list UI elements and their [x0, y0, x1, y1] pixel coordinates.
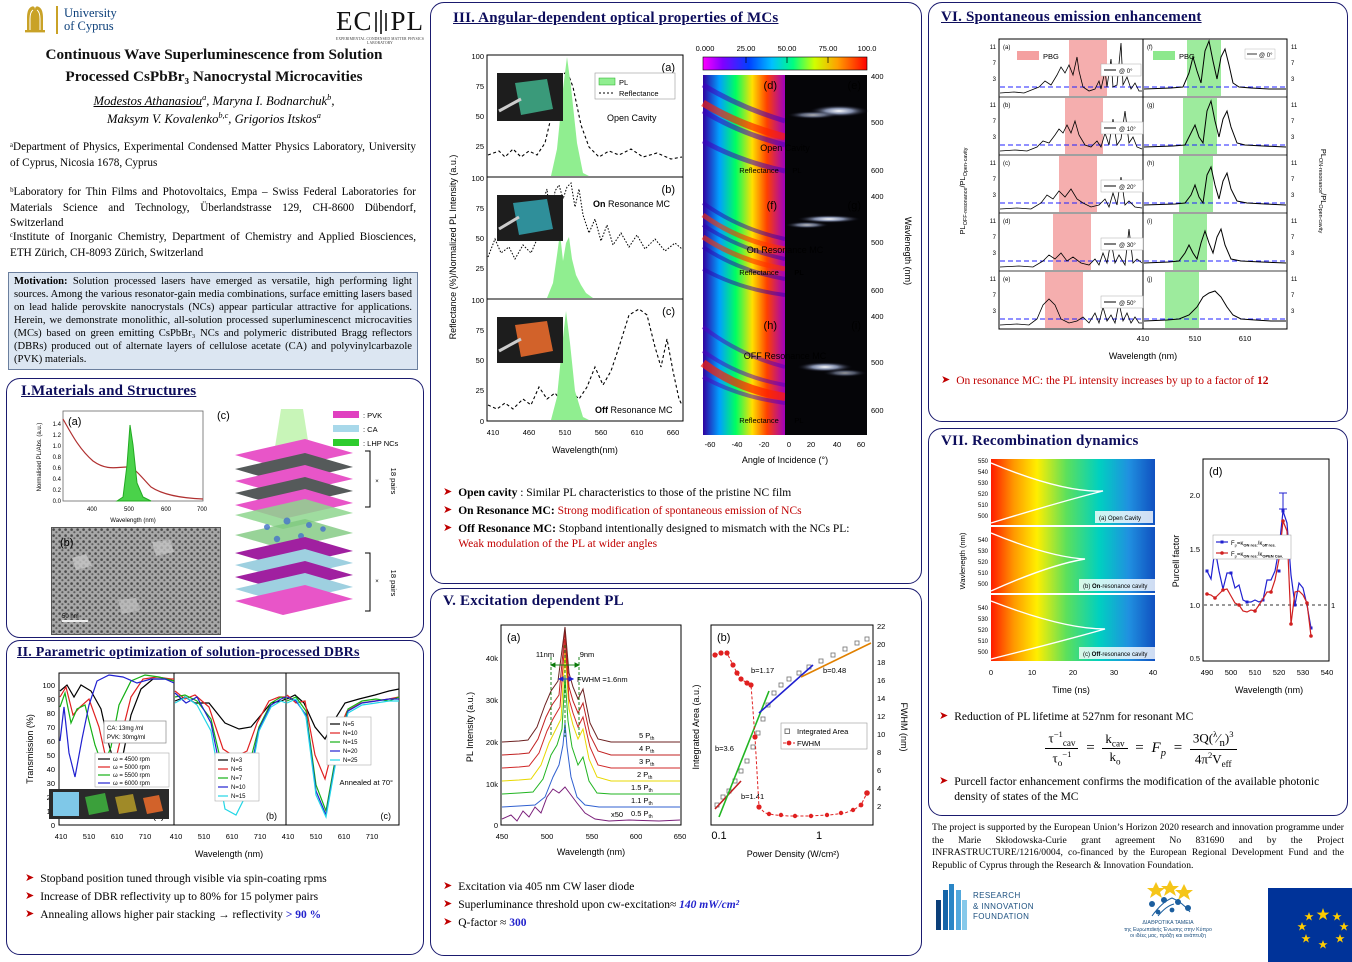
arrow-icon: ➤	[443, 916, 452, 930]
svg-text:75.00: 75.00	[819, 44, 838, 53]
svg-text:40: 40	[47, 765, 55, 774]
svg-text:60: 60	[857, 440, 865, 449]
figure-i-b-label: (b)	[60, 537, 73, 549]
svg-text:11: 11	[990, 277, 997, 283]
svg-text:600: 600	[871, 286, 884, 295]
svg-text:0.8: 0.8	[53, 455, 62, 461]
angle-label-50: @ 50°	[1119, 301, 1136, 307]
bullet-text: Superluminance threshold upon cw-excitat…	[458, 898, 739, 913]
svg-text:660: 660	[667, 428, 680, 437]
legend-label-reflectance: Reflectance	[619, 89, 659, 98]
sub-label-reflectance: Reflectance	[739, 166, 779, 175]
section-vi-title: VI. Spontaneous emission enhancement	[941, 9, 1202, 26]
figure-vii-yticks: 550540530 520510500 540530520 510500 540…	[978, 459, 989, 656]
angle-label-30: @ 30°	[1119, 243, 1136, 249]
svg-text:Wavelength (nm): Wavelength (nm)	[110, 518, 155, 524]
svg-text:540: 540	[1321, 668, 1334, 677]
motivation-box: Motivation: Solution processed lasers ha…	[8, 272, 418, 370]
figure-iii-e-label: (e)	[848, 80, 861, 92]
svg-text:460: 460	[523, 428, 536, 437]
university-emblem-icon	[20, 4, 50, 36]
svg-text:6: 6	[877, 766, 881, 775]
figure-iii-legend: PL Reflectance	[595, 73, 675, 99]
ecmpl-logo-text: EC PL	[325, 6, 435, 37]
structural-funds-logo: ΔΙΑΘΡΩΤΙΚΑ ΤΑΜΕΙΑ της Ευρωπαϊκής Ένωσης …	[1104, 880, 1232, 940]
svg-text:0: 0	[51, 821, 55, 830]
figure-iii-d-label: (d)	[764, 80, 777, 92]
poster-header: University of Cyprus EC PL EXPERIMENTAL …	[0, 0, 424, 380]
svg-text:N=5: N=5	[231, 767, 243, 773]
bullet-accent: 300	[509, 917, 526, 929]
svg-text:0.000: 0.000	[696, 44, 715, 53]
svg-text:520: 520	[978, 560, 989, 566]
figure-vii-left-ylabel: Wavlenegth (nm)	[958, 532, 967, 589]
authors-line-2: Maksym V. Kovalenkob,c, Grigorios Itskos…	[14, 110, 414, 128]
svg-text:ω = 5000 rpm: ω = 5000 rpm	[113, 765, 150, 771]
svg-text:410: 410	[1137, 334, 1150, 343]
tem-scale-bar-label: 50 nm	[62, 614, 79, 620]
svg-text:50: 50	[476, 112, 484, 121]
figure-iii-i-label: (i)	[851, 320, 861, 332]
svg-text:500: 500	[978, 514, 989, 520]
svg-text:25: 25	[476, 142, 484, 151]
sub-label-reflectance-2: Reflectance	[739, 268, 779, 277]
svg-text:10: 10	[1028, 668, 1036, 677]
legend-blue: Fp=κON res./κoff res.	[1231, 541, 1276, 548]
figure-i-c-microcavity-schematic: (c) : PVK : CA : LHP NCs	[213, 403, 419, 635]
bullet-accent: > 90 %	[286, 909, 321, 921]
svg-text:0.1: 0.1	[711, 830, 726, 842]
bullet-item: ➤ Increase of DBR reflectivity up to 80%…	[25, 890, 417, 905]
svg-text:610: 610	[111, 832, 124, 841]
svg-text:11: 11	[990, 219, 997, 225]
svg-text:75: 75	[476, 326, 484, 335]
bullet-text: On Resonance MC: Strong modification of …	[458, 504, 801, 519]
bullet-item: ➤ On resonance MC: the PL intensity incr…	[941, 374, 1341, 389]
title-line-1: Continuous Wave Superluminescence from S…	[14, 44, 414, 66]
sub-label-pl: PL	[792, 166, 801, 175]
svg-text:: LHP NCs: : LHP NCs	[363, 439, 399, 448]
svg-text:0: 0	[494, 821, 498, 830]
affiliation-b: ᵇLaboratory for Thin Films and Photovolt…	[10, 185, 416, 232]
svg-text:100: 100	[42, 681, 55, 690]
svg-text:510: 510	[978, 503, 989, 509]
figure-i-a-pl-absorbance: (a) 0.00.20.4 0.60.81.0 1.21.4 400500 60…	[31, 405, 211, 527]
figure-iii-right-xticks: -60-40-20 0204060	[705, 440, 866, 449]
svg-text:400: 400	[871, 72, 884, 81]
section-ii-bullets: ➤ Stopband position tuned through visibl…	[25, 869, 417, 926]
svg-text:510: 510	[559, 428, 572, 437]
figure-i-a-label: (a)	[68, 416, 81, 428]
svg-text:2: 2	[877, 802, 881, 811]
annotation-b36: b=3.6	[715, 744, 734, 753]
streak-c-label: (c) Off-resonance cavity	[1083, 652, 1147, 658]
figure-iii-right-yticks: 400500600 400500600 400500600	[871, 72, 884, 415]
svg-text:550: 550	[978, 459, 989, 465]
svg-text:100: 100	[471, 296, 484, 305]
structural-funds-icon	[1104, 880, 1232, 920]
svg-text:0: 0	[480, 417, 484, 426]
svg-text:100: 100	[471, 174, 484, 183]
svg-text:(d): (d)	[1003, 219, 1010, 225]
svg-text:4: 4	[877, 784, 881, 793]
svg-text:0: 0	[787, 440, 791, 449]
svg-text:510: 510	[83, 832, 96, 841]
svg-text:ω = 6000 rpm: ω = 6000 rpm	[113, 781, 150, 787]
bullet-text: Stopband position tuned through visible …	[40, 872, 327, 887]
figure-ii-panel-b-legend: N=3 N=5 N=7 N=10 N=15	[215, 753, 259, 801]
svg-text:18: 18	[877, 658, 885, 667]
eu-flag-icon	[1268, 888, 1352, 962]
svg-text:500: 500	[1225, 668, 1238, 677]
bullet-item: ➤ Reduction of PL lifetime at 527nm for …	[939, 710, 1343, 725]
svg-text:11: 11	[1291, 103, 1298, 109]
svg-text:(e): (e)	[1003, 277, 1010, 283]
svg-text:510: 510	[310, 832, 323, 841]
svg-text:50: 50	[476, 234, 484, 243]
svg-text:540: 540	[978, 470, 989, 476]
figure-iii-f-label: (f)	[767, 200, 777, 212]
figure-vii-d-label: (d)	[1209, 466, 1222, 478]
svg-text:25: 25	[476, 264, 484, 273]
svg-text:60: 60	[47, 737, 55, 746]
university-logo: University of Cyprus	[20, 4, 117, 36]
figure-ii-transmission-chart: 01020 304050 607080 90100 Transmission (…	[19, 667, 415, 867]
svg-text:8: 8	[877, 748, 881, 757]
svg-text:410: 410	[282, 832, 295, 841]
authors-line-1: Modestos Athanasioua, Maryna I. Bodnarch…	[14, 92, 414, 110]
figure-iii-a-caption: Open Cavity	[607, 113, 657, 123]
bullet-accent: 140 mW/cm²	[679, 899, 739, 911]
figure-iii-c-caption: Off Resonance MC	[595, 405, 673, 415]
svg-text:20: 20	[877, 640, 885, 649]
affiliation-a: ᵃDepartment of Physics, Experimental Con…	[10, 140, 416, 171]
svg-text:510: 510	[1249, 668, 1262, 677]
figure-ii-annealed-note: Annealed at 70°	[340, 778, 393, 787]
svg-text:25: 25	[476, 386, 484, 395]
annotation-pvk: PVK: 30mg/ml	[107, 735, 145, 741]
angle-label-right-0: @ 0°	[1259, 53, 1273, 59]
arrow-icon: ➤	[443, 880, 452, 894]
svg-text:: CA: : CA	[363, 425, 378, 434]
figure-iii-b-inset-photo	[497, 195, 563, 241]
svg-text:600: 600	[630, 832, 643, 841]
figure-ii-inset-photos	[49, 789, 169, 819]
figure-ii-panel-c-label: (c)	[381, 811, 392, 821]
svg-text:Normalised PL/Abs. (a.u.): Normalised PL/Abs. (a.u.)	[37, 423, 43, 492]
svg-text:30k: 30k	[486, 696, 498, 705]
logo-divider	[56, 6, 58, 34]
annotation-b141: b=1.41	[741, 792, 764, 801]
figure-iii-c-label: (c)	[662, 306, 675, 318]
svg-text:530: 530	[978, 549, 989, 555]
svg-text:N=20: N=20	[343, 749, 358, 755]
svg-text:20: 20	[807, 440, 815, 449]
svg-text:16: 16	[877, 676, 885, 685]
legend-integrated-area: Integrated Area	[797, 727, 849, 736]
svg-text:500: 500	[871, 358, 884, 367]
figure-iii-angular-maps: 0.00025.0050.00 75.00100.0	[689, 33, 917, 467]
figure-iii-c-inset-photo	[497, 317, 563, 363]
svg-text:510: 510	[978, 571, 989, 577]
svg-text:-40: -40	[732, 440, 743, 449]
figure-iii-b-label: (b)	[662, 184, 675, 196]
svg-text:50.00: 50.00	[778, 44, 797, 53]
arrow-icon: ➤	[443, 486, 452, 500]
svg-text:80: 80	[47, 709, 55, 718]
svg-text:500: 500	[978, 582, 989, 588]
figure-iii-a-inset-photo	[497, 73, 563, 121]
university-name-line2: of Cyprus	[64, 20, 117, 33]
rif-line-1: RESEARCH	[973, 891, 1034, 902]
figure-iii-left-ylabel: Reflectance (%)/Normalized PL Intensity …	[448, 155, 458, 340]
bullet-text: Open cavity : Similar PL characteristics…	[458, 486, 791, 501]
section-i-title: I.Materials and Structures	[21, 383, 196, 400]
svg-text:0.4: 0.4	[53, 477, 62, 483]
svg-text:20: 20	[1069, 668, 1077, 677]
rif-text: RESEARCH & INNOVATION FOUNDATION	[973, 891, 1034, 923]
figure-ii-annotation-box: CA: 13mg /ml PVK: 30mg/ml	[104, 721, 166, 743]
svg-text:700: 700	[197, 507, 208, 513]
bullet-item: ➤ Off Resonance MC: Stopband intentional…	[443, 522, 913, 552]
svg-text:ω = 4500 rpm: ω = 4500 rpm	[113, 757, 150, 763]
figure-v-b-threshold-curve: (b)	[689, 617, 911, 869]
svg-text:0: 0	[989, 668, 993, 677]
section-v-title: V. Excitation dependent PL	[443, 593, 624, 610]
figure-v-b-y2label: FWHM (nm)	[899, 703, 909, 752]
map-row-off-resonance: (h) (i) OFF Resonance MC Reflectance PL	[703, 315, 867, 435]
map-row-open-cavity: (d) (e) Open Cavity Reflectance PL	[703, 75, 869, 195]
svg-text:(a): (a)	[1003, 45, 1010, 51]
svg-text:10: 10	[877, 730, 885, 739]
sub-label-pl-3: PL	[794, 416, 803, 425]
figure-ii-panel-b-label: (b)	[266, 811, 277, 821]
svg-text:11: 11	[1291, 219, 1298, 225]
svg-text:500: 500	[871, 118, 884, 127]
svg-text:14: 14	[877, 694, 885, 703]
svg-text:1.0: 1.0	[1190, 601, 1200, 610]
figure-iii-left-xlabel: Wavelength(nm)	[552, 445, 618, 455]
svg-text:22: 22	[877, 622, 885, 631]
svg-text:40: 40	[833, 440, 841, 449]
svg-text:70: 70	[47, 723, 55, 732]
annotation-fwhm: FWHM =1.6nm	[577, 675, 628, 684]
bullet-item: ➤ Excitation via 405 nm CW laser diode	[443, 880, 913, 895]
arrow-icon: ➤	[443, 504, 452, 518]
legend-label-pl: PL	[619, 78, 628, 87]
svg-text:30: 30	[1110, 668, 1118, 677]
figure-ii-panel-c-legend: N=5 N=10 N=15 N=20 N=25	[327, 717, 371, 765]
figure-v-a-pl-spectra: (a)	[459, 617, 691, 869]
svg-text:510: 510	[198, 832, 211, 841]
svg-text:610: 610	[226, 832, 239, 841]
arrow-icon: ➤	[25, 908, 34, 922]
svg-text:540: 540	[978, 538, 989, 544]
author-list: Modestos Athanasioua, Maryna I. Bodnarch…	[14, 92, 414, 129]
svg-text:(g): (g)	[1147, 103, 1154, 109]
svg-text:410: 410	[170, 832, 183, 841]
bullet-accent: 12	[1257, 375, 1269, 387]
svg-text:12: 12	[877, 712, 885, 721]
svg-text:1.4: 1.4	[53, 422, 62, 428]
figure-i-c-label: (c)	[217, 410, 230, 422]
figure-vii-left-xlabel: Time (ns)	[1052, 685, 1090, 695]
figure-vii-legend: Fp=κON res./κoff res. Fp=κON res./κOPEN …	[1213, 535, 1291, 559]
arrow-icon: ➤	[25, 872, 34, 886]
svg-text:75: 75	[476, 204, 484, 213]
annotation-b117: b=1.17	[751, 666, 774, 675]
pairs-label-bottom: 18 pairs	[389, 570, 398, 597]
schematic-legend: : PVK : CA : LHP NCs	[333, 411, 399, 448]
section-iii-bullets: ➤ Open cavity : Similar PL characteristi…	[443, 483, 913, 555]
bullet-text: Excitation via 405 nm CW laser diode	[458, 880, 634, 895]
sub-label-reflectance-3: Reflectance	[739, 416, 779, 425]
svg-text:×: ×	[375, 479, 379, 485]
pairs-label-top: 18 pairs	[389, 468, 398, 495]
streak-b-label: (b) On-resonance cavity	[1083, 584, 1147, 590]
section-spontaneous-emission: VI. Spontaneous emission enhancement	[928, 2, 1348, 422]
figure-iii-reflectance-pl-spectra: (a) PL Reflectance Open Cavity (b)	[443, 47, 693, 467]
sub-label-pl-2: PL	[794, 268, 804, 277]
map-row-2-caption: On Resonance MC	[747, 245, 824, 255]
svg-text:(b): (b)	[1003, 103, 1010, 109]
svg-text:1.2: 1.2	[53, 433, 62, 439]
svg-text:710: 710	[254, 832, 267, 841]
svg-text:11: 11	[1291, 45, 1298, 51]
svg-text:50: 50	[476, 356, 484, 365]
bullet-text: On resonance MC: the PL intensity increa…	[956, 374, 1268, 389]
svg-text:710: 710	[366, 832, 379, 841]
figure-iii-right-ylabel: Wavlenegth (nm)	[903, 217, 913, 285]
svg-text:500: 500	[871, 238, 884, 247]
section-angular-optical-properties: III. Angular-dependent optical propertie…	[430, 2, 922, 584]
bullet-text: Annealing allows higher pair stacking → …	[40, 908, 321, 923]
svg-text:510: 510	[1189, 334, 1202, 343]
figure-vii-r-xlabel: Wavelength (nm)	[1235, 685, 1303, 695]
svg-text:11: 11	[990, 103, 997, 109]
section-dbr-optimization: II. Parametric optimization of solution-…	[6, 640, 424, 955]
figure-iii-b-caption: On Resonance MC	[593, 199, 671, 209]
svg-text:610: 610	[1239, 334, 1252, 343]
rif-logo: RESEARCH & INNOVATION FOUNDATION	[936, 884, 1034, 930]
bullet-item: ➤ Purcell factor enhancement confirms th…	[939, 775, 1343, 805]
section-materials-structures: I.Materials and Structures (a) 0.00.20.4…	[6, 378, 424, 638]
bullet-text: Increase of DBR reflectivity up to 80% f…	[40, 890, 318, 905]
bullet-text: Purcell factor enhancement confirms the …	[954, 775, 1343, 805]
svg-text:2.0: 2.0	[1190, 491, 1200, 500]
svg-text:11: 11	[1291, 277, 1298, 283]
legend-red: Fp=κON res./κOPEN Cav.	[1231, 552, 1283, 559]
svg-text:(c): (c)	[1003, 161, 1010, 167]
svg-text:40: 40	[1149, 668, 1157, 677]
figure-iii-right-xlabel: Angle of Incidence (°)	[742, 455, 828, 465]
section-vi-bullets: ➤ On resonance MC: the PL intensity incr…	[941, 371, 1341, 392]
svg-text:11: 11	[990, 161, 997, 167]
svg-text:50: 50	[47, 751, 55, 760]
figure-iii-colorbar: 0.00025.0050.00 75.00100.0	[696, 44, 877, 70]
svg-text:520: 520	[978, 492, 989, 498]
section-vii-bullets: ➤ Reduction of PL lifetime at 527nm for …	[939, 707, 1343, 808]
figure-ii-panel-a-legend: ω = 4500 rpm ω = 5000 rpm ω = 5500 rpm ω…	[95, 753, 169, 787]
svg-text:500: 500	[541, 832, 554, 841]
rif-bars-icon	[936, 884, 967, 930]
svg-text:-60: -60	[705, 440, 716, 449]
bullet-item: ➤ On Resonance MC: Strong modification o…	[443, 504, 913, 519]
streak-a-label: (a) Open Cavity	[1099, 516, 1141, 522]
arrow-icon: ➤	[939, 775, 948, 789]
svg-text:410: 410	[55, 832, 68, 841]
bullet-item: ➤ Q-factor ≈ 300	[443, 916, 913, 931]
svg-text:40k: 40k	[486, 654, 498, 663]
svg-text:30: 30	[47, 779, 55, 788]
svg-text:710: 710	[139, 832, 152, 841]
figure-vii-purcell-factor: (d) 1	[1169, 453, 1339, 701]
svg-text:20k: 20k	[486, 738, 498, 747]
svg-text:560: 560	[595, 428, 608, 437]
svg-text:410: 410	[487, 428, 500, 437]
svg-text:0.0: 0.0	[53, 499, 62, 505]
angle-label-0: @ 0°	[1119, 69, 1133, 75]
svg-text:-20: -20	[759, 440, 770, 449]
map-row-on-resonance: (f) (g) On Resonance MC Reflectance PL	[703, 195, 867, 315]
streak-map-a: (a) Open Cavity	[991, 459, 1155, 525]
figure-vii-streak-maps: (a) Open Cavity (b) On-resonance cavity …	[953, 453, 1163, 701]
svg-text:510: 510	[978, 639, 989, 645]
bullet-item: ➤ Open cavity : Similar PL characteristi…	[443, 486, 913, 501]
pbg-label-left: PBG	[1043, 52, 1059, 61]
annotation-b048: b=0.48	[823, 666, 846, 675]
svg-text:0.5: 0.5	[1190, 654, 1200, 663]
df-line-3: οι ιδέες μας, πράξη και ανάπτυξη	[1104, 933, 1232, 940]
figure-iii-h-label: (h)	[764, 320, 777, 332]
pbg-legend-left: PBG	[1017, 51, 1059, 61]
section-excitation-dependent-pl: V. Excitation dependent PL (a)	[430, 588, 922, 956]
rif-line-3: FOUNDATION	[973, 912, 1034, 923]
annotation-11nm: 11nm	[536, 650, 554, 659]
pbg-label-right: PBG	[1179, 52, 1195, 61]
section-v-bullets: ➤ Excitation via 405 nm CW laser diode ➤…	[443, 877, 913, 934]
streak-map-c: (c) Off-resonance cavity	[991, 595, 1155, 661]
svg-text:500: 500	[978, 650, 989, 656]
title-line-2: Processed CsPbBr₃ Nanocrystal Microcavit…	[14, 66, 414, 88]
bullet-item: ➤ Annealing allows higher pair stacking …	[25, 908, 417, 923]
motivation-text: Solution processed lasers have emerged a…	[14, 276, 412, 365]
svg-text:600: 600	[161, 507, 172, 513]
figure-v-b-label: (b)	[717, 632, 730, 644]
figure-v-b-xlabel: Power Density (W/cm²)	[747, 849, 840, 859]
map-row-3-caption: OFF Resonance MC	[744, 351, 827, 361]
svg-text:(f): (f)	[1147, 45, 1153, 51]
svg-text:400: 400	[871, 312, 884, 321]
figure-v-a-xlabel: Wavelength (nm)	[557, 847, 625, 857]
svg-text:600: 600	[871, 166, 884, 175]
svg-text:1.5: 1.5	[1190, 545, 1200, 554]
svg-text:490: 490	[1201, 668, 1214, 677]
svg-text:N=15: N=15	[343, 740, 358, 746]
figure-i-b-tem-image: (b) 50 nm	[51, 527, 221, 635]
bullet-text: Reduction of PL lifetime at 527nm for re…	[954, 710, 1193, 725]
figure-v-a-label: (a)	[507, 632, 520, 644]
motivation-label: Motivation:	[14, 276, 68, 287]
arrow-icon: ➤	[443, 898, 452, 912]
figure-vii-xticks: 01020 3040	[989, 668, 1157, 677]
svg-text:530: 530	[978, 617, 989, 623]
svg-text:600: 600	[871, 406, 884, 415]
svg-text:11: 11	[1291, 161, 1298, 167]
annotation-9nm: 9nm	[580, 650, 595, 659]
affiliation-c: ᶜInstitute of Inorganic Chemistry, Depar…	[10, 230, 416, 261]
reference-line-label: 1	[1331, 601, 1335, 610]
